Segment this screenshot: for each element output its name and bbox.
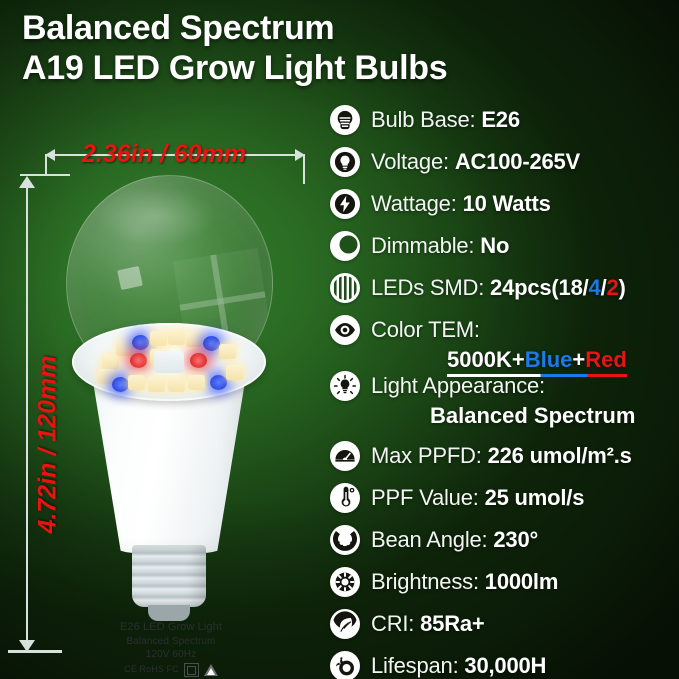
brightness-sun-icon [330, 567, 360, 597]
product-infographic: Balanced Spectrum A19 LED Grow Light Bul… [0, 0, 679, 679]
spec-row-max-ppfd: Max PPFD: 226 umol/m².s [330, 439, 632, 473]
bulb-certification-marks: CE RoHS FC [88, 663, 254, 677]
spec-value-cri: 85Ra+ [420, 611, 484, 636]
led-driver-core [154, 351, 184, 373]
spec-value-bean-angle: 230° [493, 527, 538, 552]
width-tick-left [45, 154, 47, 176]
bulb-screw-base [132, 545, 206, 607]
spec-label-ppf-value: PPF Value: 25 umol/s [371, 485, 584, 511]
spec-row-bulb-base: Bulb Base: E26 [330, 103, 520, 137]
max-ppfd-gauge-icon [330, 441, 360, 471]
spec-row-leds-smd: LEDs SMD: 24pcs(18/4/2) [330, 271, 626, 305]
spec-row-bean-angle: Bean Angle: 230° [330, 523, 538, 557]
spec-value-max-ppfd: 226 umol/m².s [488, 443, 632, 468]
spec-row-dimmable: Dimmable: No [330, 229, 509, 263]
spec-label-lifespan: Lifespan: 30,000H [371, 653, 546, 679]
bulb-screw-tip [148, 605, 190, 621]
led-chip-array [98, 333, 240, 391]
spec-row-light-appearance: Light Appearance: [330, 369, 545, 403]
spec-label-bean-angle: Bean Angle: 230° [371, 527, 538, 553]
bulb-label-line-3: 120V 60Hz [88, 648, 254, 662]
spec-label-color-tem: Color TEM: [371, 317, 480, 343]
cri-leaf-icon [330, 609, 360, 639]
ppf-thermometer-icon [330, 483, 360, 513]
spec-value-lifespan: 30,000H [464, 653, 546, 678]
spec-value-bulb-base: E26 [481, 107, 520, 132]
spec-row-lifespan: Lifespan: 30,000H [330, 649, 546, 679]
light-appearance-icon [330, 371, 360, 401]
spec-value-wattage: 10 Watts [463, 191, 551, 216]
spec-value-ppf-value: 25 umol/s [485, 485, 585, 510]
spec-row-ppf-value: PPF Value: 25 umol/s [330, 481, 584, 515]
width-tick-right [303, 154, 305, 184]
bulb-body-group: E26 LED Grow Light Balanced Spectrum 120… [70, 323, 268, 623]
wattage-bolt-icon [330, 189, 360, 219]
spec-label-light-appearance: Light Appearance: [371, 373, 545, 399]
spec-value-leds-smd: 24pcs(18/4/2) [490, 275, 626, 300]
glass-top-highlight [97, 186, 217, 246]
spec-value-dimmable: No [480, 233, 509, 258]
height-arrow-up-icon [19, 176, 35, 188]
title-line-1: Balanced Spectrum [22, 8, 662, 48]
spec-label-dimmable: Dimmable: No [371, 233, 509, 259]
width-dimension-label: 2.36in / 60mm [82, 140, 246, 169]
color-tem-eye-icon [330, 315, 360, 345]
recycle-triangle-icon [204, 664, 218, 676]
bulb-label-line-1: E26 LED Grow Light [88, 621, 254, 635]
page-title: Balanced Spectrum A19 LED Grow Light Bul… [22, 8, 662, 89]
bulb-printed-label: E26 LED Grow Light Balanced Spectrum 120… [88, 621, 254, 677]
height-tick-bottom [8, 650, 62, 653]
lifespan-icon [330, 651, 360, 679]
spec-row-wattage: Wattage: 10 Watts [330, 187, 551, 221]
title-line-2: A19 LED Grow Light Bulbs [22, 48, 662, 89]
glass-specular-square [117, 266, 143, 290]
height-dimension-line [26, 182, 28, 652]
spec-label-cri: CRI: 85Ra+ [371, 611, 485, 637]
spec-value-brightness: 1000lm [485, 569, 558, 594]
bulb-base-icon [330, 105, 360, 135]
light-appearance-value: Balanced Spectrum [430, 403, 635, 429]
spec-label-voltage: Voltage: AC100-265V [371, 149, 580, 175]
weee-bin-icon [184, 663, 199, 677]
spec-row-cri: CRI: 85Ra+ [330, 607, 485, 641]
voltage-bulb-icon [330, 147, 360, 177]
bulb-label-line-4: CE RoHS FC [124, 663, 179, 677]
bulb-label-line-2: Balanced Spectrum [88, 635, 254, 649]
dimmable-moon-icon [330, 231, 360, 261]
spec-label-brightness: Brightness: 1000lm [371, 569, 558, 595]
spec-label-leds-smd: LEDs SMD: 24pcs(18/4/2) [371, 275, 626, 301]
bulb-illustration: E26 LED Grow Light Balanced Spectrum 120… [58, 175, 278, 645]
beam-angle-icon [330, 525, 360, 555]
spec-row-voltage: Voltage: AC100-265V [330, 145, 580, 179]
spec-label-bulb-base: Bulb Base: E26 [371, 107, 520, 133]
spec-label-max-ppfd: Max PPFD: 226 umol/m².s [371, 443, 632, 469]
spec-row-color-tem: Color TEM: [330, 313, 480, 347]
spec-row-brightness: Brightness: 1000lm [330, 565, 558, 599]
leds-smd-icon [330, 273, 360, 303]
height-dimension-label: 4.72in / 120mm [34, 345, 63, 545]
spec-value-voltage: AC100-265V [455, 149, 580, 174]
spec-label-wattage: Wattage: 10 Watts [371, 191, 551, 217]
